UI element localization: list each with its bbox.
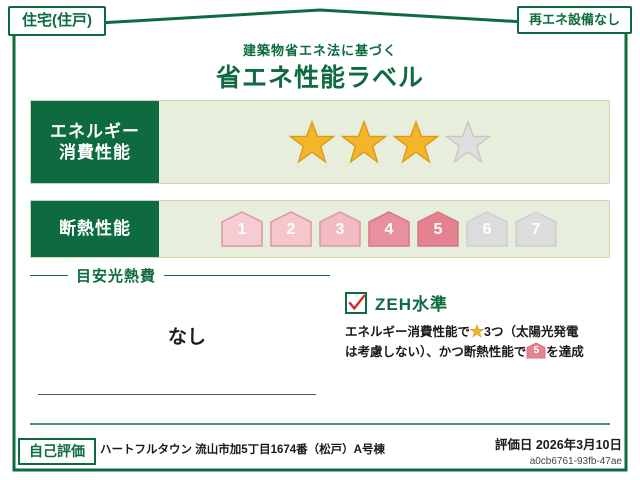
evaluation-date: 評価日 2026年3月10日 — [495, 438, 622, 454]
utility-cost-header: 目安光熱費 — [30, 266, 330, 284]
energy-consumption-row: エネルギー 消費性能 — [30, 100, 610, 184]
insulation-grade-label: 6 — [464, 222, 510, 238]
zeh-header: ZEH水準 — [345, 290, 615, 315]
insulation-grade-2: 2 — [268, 209, 314, 249]
zeh-desc-part4: を達成 — [546, 345, 584, 359]
insulation-grade-7: 7 — [513, 209, 559, 249]
insulation-title: 断熱性能 — [31, 201, 159, 257]
divider-left — [30, 275, 68, 276]
insulation-grade-4: 4 — [366, 209, 412, 249]
insulation-grade-label: 4 — [366, 222, 412, 238]
utility-cost-section: 目安光熱費 なし — [30, 266, 330, 349]
insulation-value: 1 2 3 4 — [159, 201, 609, 257]
zeh-desc-part2: 3つ（太陽光発電 — [484, 325, 578, 339]
insulation-grade-1: 1 — [219, 209, 265, 249]
insulation-title-text: 断熱性能 — [59, 218, 131, 239]
label-title: 省エネ性能ラベル — [0, 58, 640, 94]
insulation-grade-label: 3 — [317, 222, 363, 238]
check-icon — [348, 294, 366, 312]
star-icon-empty — [445, 119, 491, 165]
insulation-grade-scale: 1 2 3 4 — [219, 209, 559, 249]
utility-cost-header-text: 目安光熱費 — [76, 265, 156, 286]
utility-cost-value: なし — [30, 322, 330, 349]
insulation-grade-6: 6 — [464, 209, 510, 249]
self-evaluation-badge: 自己評価 — [18, 438, 96, 465]
building-type-tag: 住宅(住戸) — [8, 6, 106, 36]
zeh-desc-part1: エネルギー消費性能で — [345, 325, 470, 339]
zeh-description: エネルギー消費性能で3つ（太陽光発電 は考慮しない）、かつ断熱性能で5を達成 — [345, 323, 615, 363]
renewable-energy-tag: 再エネ設備なし — [517, 6, 632, 34]
insulation-grade-inline-label: 5 — [526, 346, 546, 356]
star-icon — [393, 119, 439, 165]
insulation-grade-inline: 5 — [526, 342, 546, 359]
energy-consumption-title-line2: 消費性能 — [59, 142, 131, 163]
energy-performance-label: 住宅(住戸) 再エネ設備なし 建築物省エネ法に基づく 省エネ性能ラベル エネルギ… — [0, 0, 640, 480]
insulation-grade-5: 5 — [415, 209, 461, 249]
energy-consumption-value — [159, 101, 609, 183]
energy-consumption-title-line1: エネルギー — [50, 121, 140, 142]
label-subtitle: 建築物省エネ法に基づく — [0, 40, 640, 59]
zeh-desc-part3: は考慮しない）、かつ断熱性能で — [345, 345, 526, 359]
star-icon — [341, 119, 387, 165]
star-icon — [289, 119, 335, 165]
star-icon-inline — [470, 324, 484, 338]
star-rating — [289, 119, 491, 165]
zeh-checkbox[interactable] — [345, 292, 367, 314]
insulation-grade-label: 2 — [268, 222, 314, 238]
evaluation-id: a0cb6761-93fb-47ae — [530, 456, 622, 468]
insulation-grade-label: 7 — [513, 222, 559, 238]
insulation-grade-label: 1 — [219, 222, 265, 238]
zeh-section: ZEH水準 エネルギー消費性能で3つ（太陽光発電 は考慮しない）、かつ断熱性能で… — [345, 290, 615, 363]
insulation-grade-label: 5 — [415, 222, 461, 238]
property-address: ハートフルタウン 流山市加5丁目1674番（松戸）A号棟 — [100, 444, 385, 458]
divider-right — [164, 275, 330, 276]
zeh-title: ZEH水準 — [375, 290, 448, 315]
insulation-row: 断熱性能 1 2 — [30, 200, 610, 258]
utility-cost-underline — [38, 394, 316, 395]
energy-consumption-title: エネルギー 消費性能 — [31, 101, 159, 183]
insulation-grade-3: 3 — [317, 209, 363, 249]
